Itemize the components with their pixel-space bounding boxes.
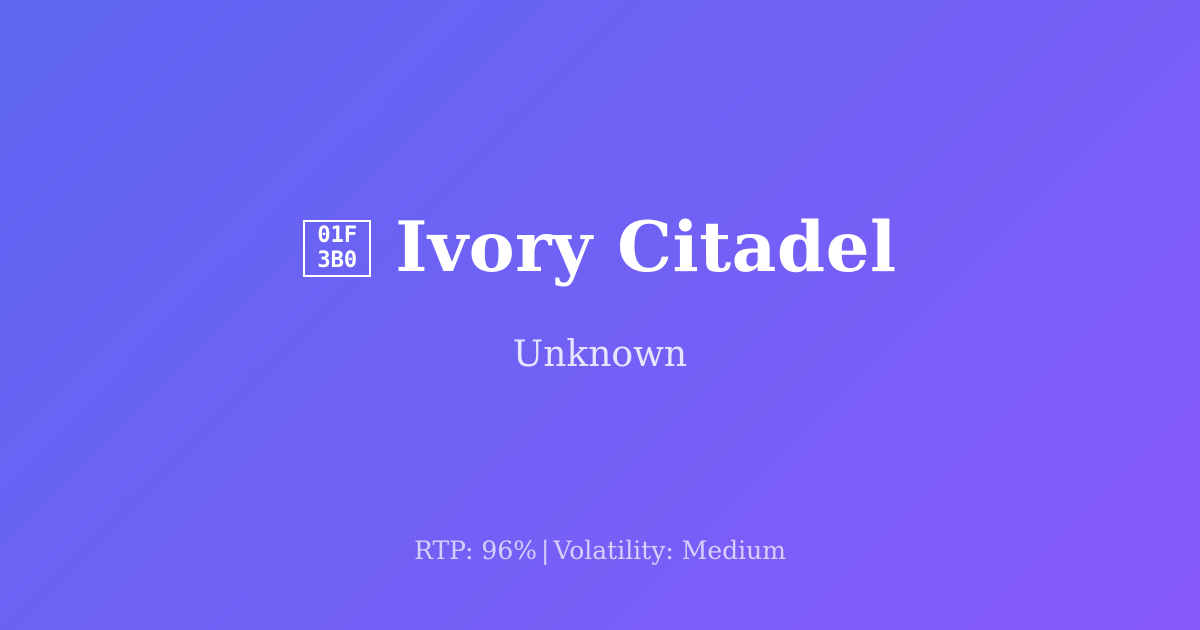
volatility-value: Volatility: Medium (553, 536, 785, 565)
game-stats-line: RTP: 96%|Volatility: Medium (0, 536, 1200, 566)
page-title: Ivory Citadel (395, 213, 896, 283)
rtp-value: RTP: 96% (414, 536, 537, 565)
game-hero-card: 01F 3B0 Ivory Citadel Unknown RTP: 96%|V… (0, 0, 1200, 630)
codepoint-top: 01F (317, 223, 357, 248)
slot-machine-icon: 01F 3B0 (303, 220, 371, 277)
codepoint-bottom: 3B0 (317, 248, 357, 273)
meta-separator: | (537, 536, 553, 565)
game-provider-subtitle: Unknown (513, 335, 687, 375)
title-row: 01F 3B0 Ivory Citadel (303, 213, 896, 283)
